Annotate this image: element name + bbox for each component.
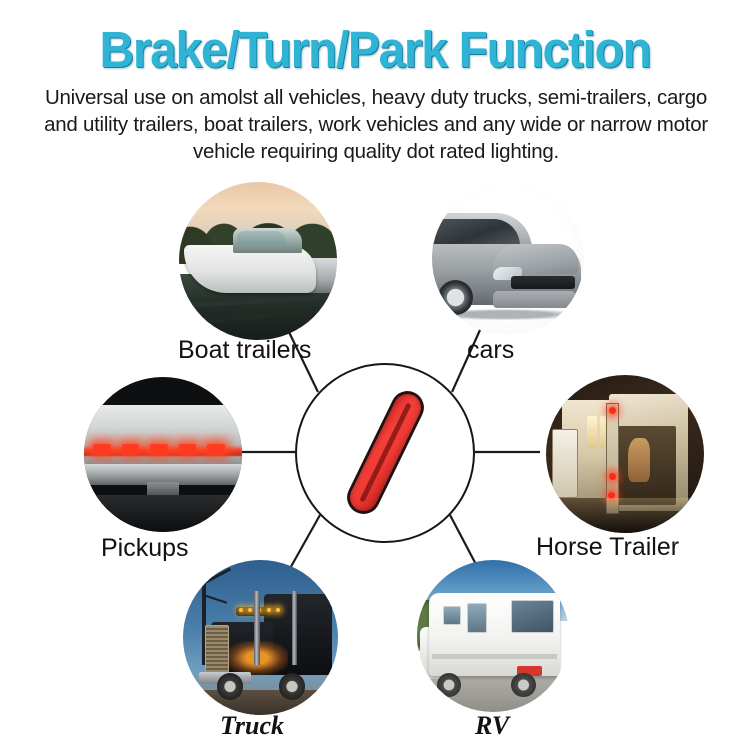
rv-wheel <box>511 673 535 697</box>
node-image-pickups <box>84 377 242 532</box>
node-image-horse-trailer <box>546 375 704 533</box>
rv-wheel <box>437 673 461 697</box>
node-label-rv: RV <box>475 711 509 741</box>
car-grille <box>511 276 575 290</box>
rv-window <box>443 606 461 626</box>
exhaust-stack <box>254 591 259 665</box>
red-led-light <box>207 444 224 455</box>
node-label-horse-trailer: Horse Trailer <box>536 533 679 562</box>
amber-marker-light <box>267 608 271 612</box>
truck-wheel <box>217 673 243 699</box>
trailer-window <box>587 416 596 448</box>
truck-grille <box>205 625 230 675</box>
horse-silhouette <box>628 438 650 482</box>
node-label-cars: cars <box>467 336 514 365</box>
node-label-truck: Truck <box>220 711 284 741</box>
road-surface <box>84 495 242 532</box>
node-label-pickups: Pickups <box>101 534 189 563</box>
node-image-truck <box>183 560 338 715</box>
led-light-bar-icon <box>342 385 430 519</box>
pickup-tailgate <box>84 405 242 470</box>
node-label-boat-trailers: Boat trailers <box>178 336 311 365</box>
node-image-rv <box>417 560 569 712</box>
red-led-light <box>122 444 139 455</box>
amber-marker-light <box>239 608 243 612</box>
red-led-light <box>179 444 196 455</box>
car-bumper <box>493 291 578 308</box>
trailer-side-door <box>552 429 577 499</box>
exhaust-stack <box>292 591 297 665</box>
product-infographic: Brake/Turn/Park Function Universal use o… <box>0 0 750 750</box>
rv-rear-window <box>511 600 554 633</box>
red-led-light <box>150 444 167 455</box>
center-hub <box>295 363 475 543</box>
truck-wheel <box>279 673 305 699</box>
red-led-light <box>93 444 110 455</box>
rv-trim-stripe <box>432 654 557 659</box>
node-image-boat-trailers <box>179 182 337 340</box>
boat-windshield <box>237 231 284 245</box>
ground-glow <box>546 498 704 533</box>
rv-window <box>467 603 487 633</box>
node-image-cars <box>432 183 584 335</box>
red-marker-light <box>609 407 616 414</box>
car-wheel <box>438 280 473 315</box>
